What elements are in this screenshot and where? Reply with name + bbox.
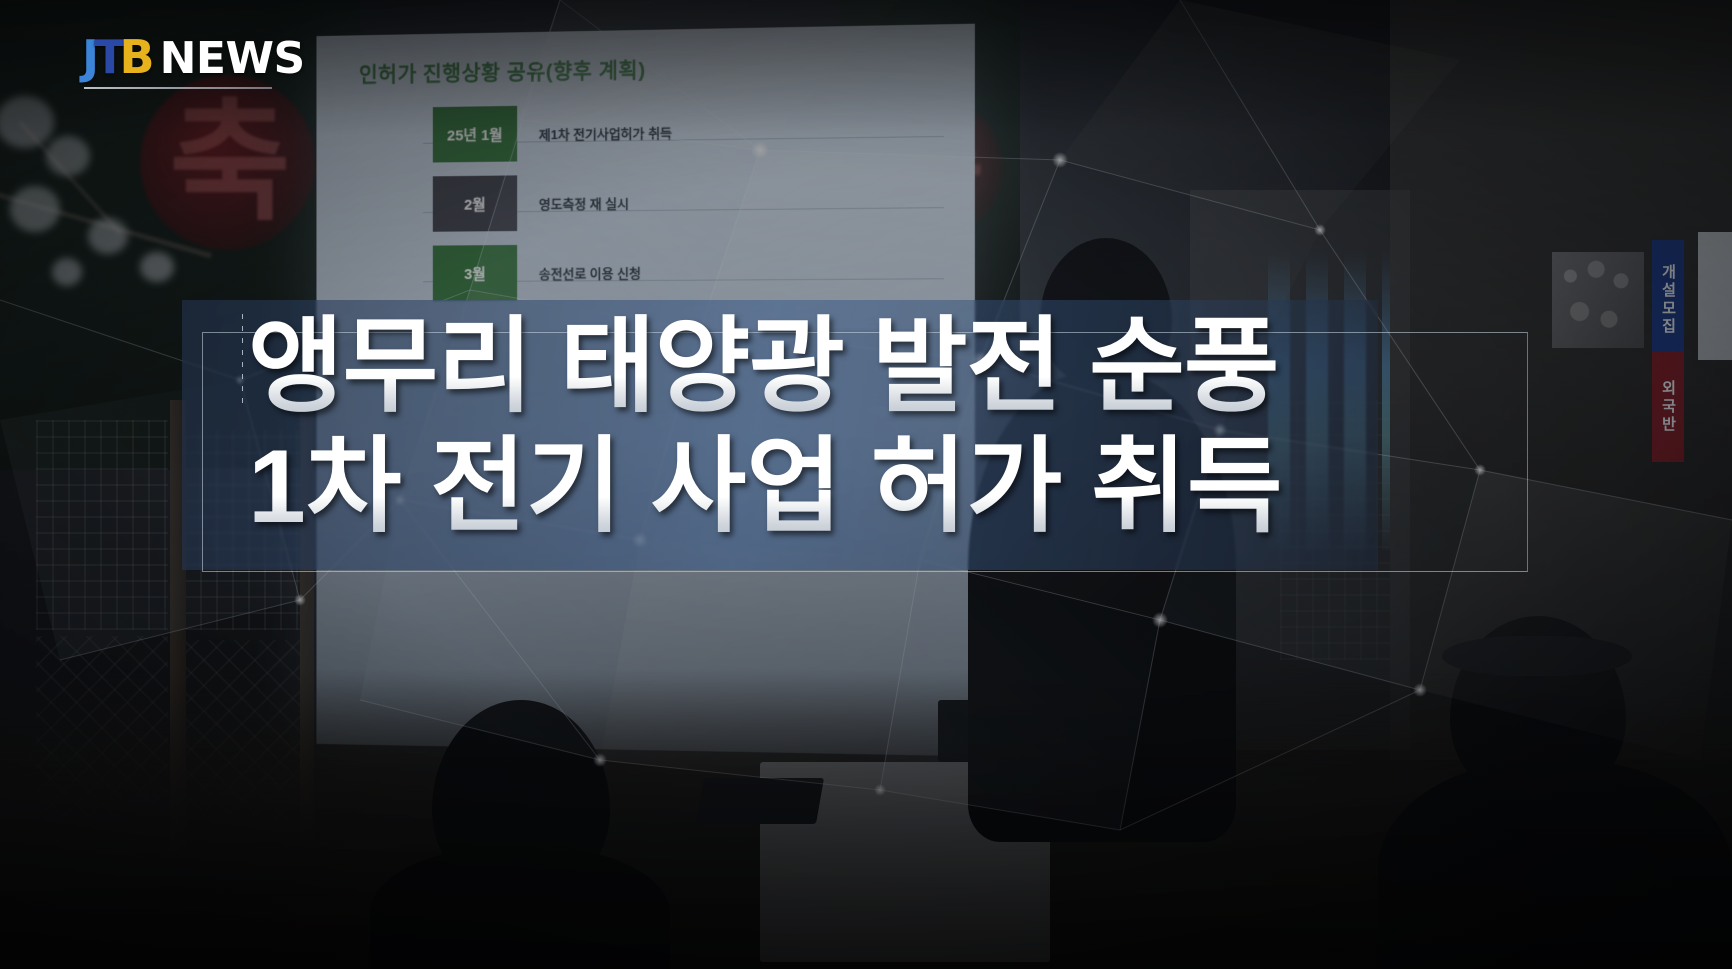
blossom-2 — [46, 136, 90, 176]
cap-brim — [1442, 636, 1632, 676]
slide-row: 25년 1월 제1차 전기사업허가 취득 — [316, 99, 974, 168]
logo-underline — [84, 87, 272, 89]
slide-row-period: 3월 — [433, 245, 517, 301]
slide-row-task: 영도측정 재 실시 — [539, 174, 629, 231]
banner-text-block: 앵무리 태양광 발전 순풍 1차 전기 사업 허가 취득 — [248, 308, 1378, 546]
wall-poster-banner-1: 개설모집 — [1652, 240, 1684, 360]
blossom-4 — [88, 218, 128, 254]
banner-dashed-accent — [242, 314, 243, 406]
slide-row: 3월 송전선로 이용 신청 — [316, 241, 974, 305]
slide-row-task: 제1차 전기사업허가 취득 — [539, 104, 672, 162]
wall-poster-notice — [1698, 232, 1732, 360]
slide-row-task: 송전선로 이용 신청 — [539, 244, 641, 300]
logo-letter-b: B — [120, 34, 154, 80]
slide-content: 인허가 진행상황 공유(향후 계획) 25년 1월 제1차 전기사업허가 취득 … — [316, 24, 974, 331]
wall-poster-banner-2: 외국반 — [1652, 352, 1684, 462]
slide-row-period: 25년 1월 — [433, 106, 517, 163]
headline-line-2: 1차 전기 사업 허가 취득 — [248, 428, 1378, 546]
logo-word-news: NEWS — [160, 37, 305, 81]
lattice-window-left — [36, 420, 168, 630]
chuk-character: 축 — [160, 88, 300, 238]
jtb-news-logo: J T B NEWS — [82, 34, 305, 89]
wall-poster-photo — [1552, 252, 1644, 348]
news-broadcast-frame: 축 축 인허가 진행상황 공유(향후 계획) 2 — [0, 0, 1732, 969]
slide-title: 인허가 진행상황 공유(향후 계획) — [359, 54, 646, 89]
headline-line-1: 앵무리 태양광 발전 순풍 — [248, 308, 1378, 426]
audience-body-left — [370, 846, 670, 969]
blossom-5 — [140, 252, 174, 282]
lower-third-banner: 앵무리 태양광 발전 순풍 1차 전기 사업 허가 취득 — [182, 300, 1378, 570]
logo-lettering: J T B NEWS — [82, 34, 305, 81]
laptop-device — [696, 778, 824, 824]
blossom-6 — [52, 258, 82, 286]
slide-row-period: 2월 — [433, 175, 517, 231]
blossom-3 — [10, 186, 60, 232]
slide-row: 2월 영도측정 재 실시 — [316, 170, 974, 236]
audience-body-right — [1378, 760, 1732, 969]
